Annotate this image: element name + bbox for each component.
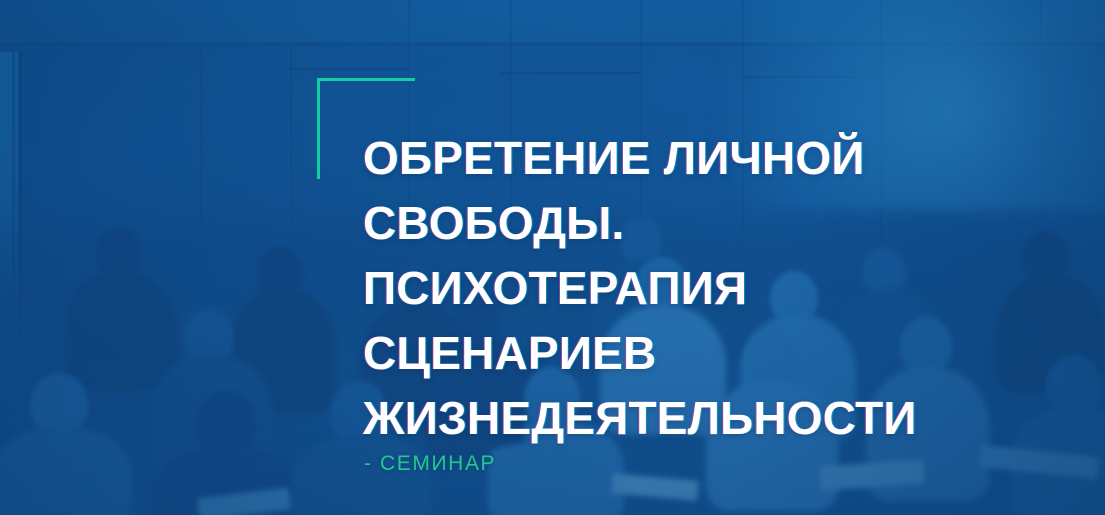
subtitle-label: - СЕМИНАР: [364, 452, 496, 476]
banner-content: ОБРЕТЕНИЕ ЛИЧНОЙ СВОБОДЫ. ПСИХОТЕРАПИЯ С…: [0, 0, 1105, 515]
page-title: ОБРЕТЕНИЕ ЛИЧНОЙ СВОБОДЫ. ПСИХОТЕРАПИЯ С…: [363, 126, 1023, 451]
title-line-5: ЖИЗНЕДЕЯТЕЛЬНОСТИ: [363, 386, 1023, 451]
seminar-banner: ОБРЕТЕНИЕ ЛИЧНОЙ СВОБОДЫ. ПСИХОТЕРАПИЯ С…: [0, 0, 1105, 515]
title-line-1: ОБРЕТЕНИЕ ЛИЧНОЙ: [363, 126, 1023, 191]
title-line-4: СЦЕНАРИЕВ: [363, 321, 1023, 386]
title-line-3: ПСИХОТЕРАПИЯ: [363, 256, 1023, 321]
title-line-2: СВОБОДЫ.: [363, 191, 1023, 256]
